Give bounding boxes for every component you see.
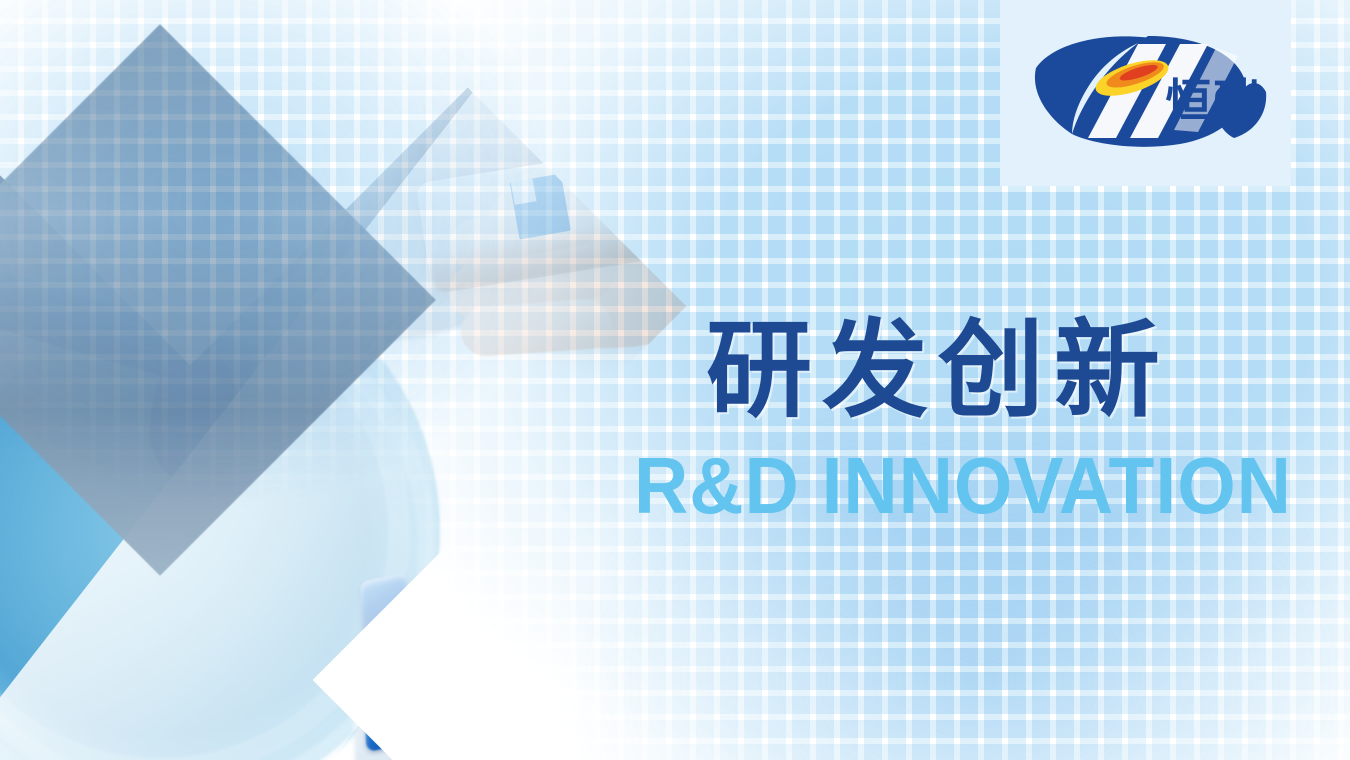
page-subtitle-en: R&D INNOVATION xyxy=(634,446,1266,526)
rd-innovation-banner: 研发创新 R&D INNOVATION xyxy=(0,0,1350,760)
logo-wrap: 恒瑞 xyxy=(1020,34,1272,152)
page-title-cn: 研发创新 xyxy=(706,318,1306,424)
headline-block: 研发创新 R&D INNOVATION xyxy=(706,318,1306,526)
hengrui-logo-panel[interactable]: 恒瑞 xyxy=(1000,0,1291,186)
logo-company-name-cn: 恒瑞 xyxy=(1166,78,1262,124)
